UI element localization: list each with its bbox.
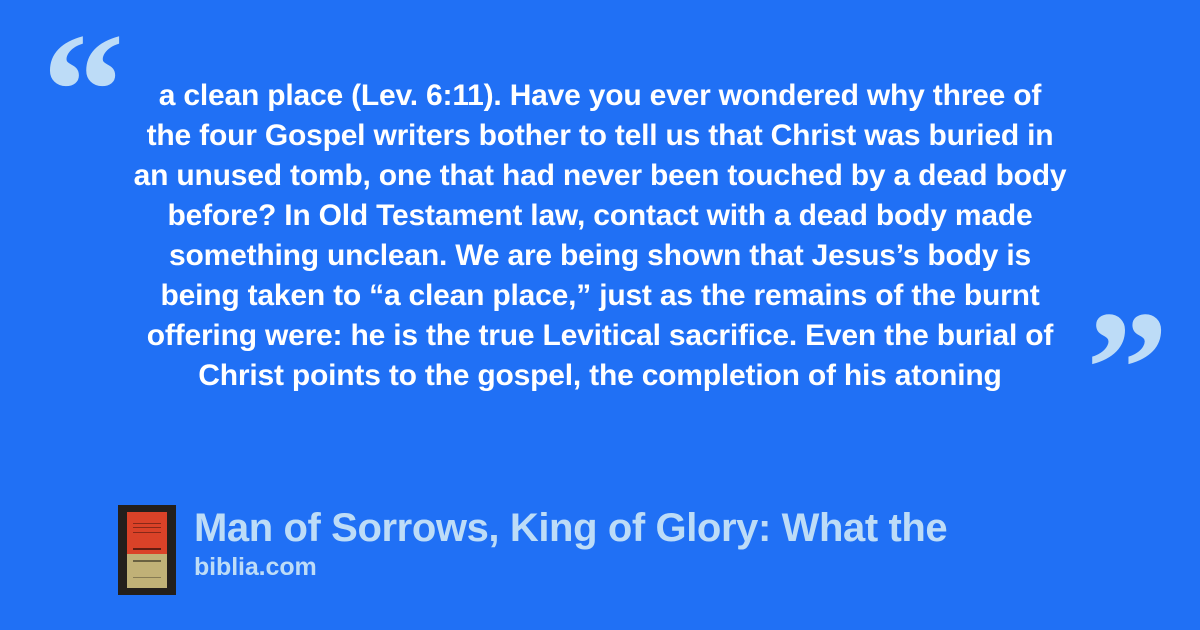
book-cover-line [133, 532, 162, 533]
book-title: Man of Sorrows, King of Glory: What the [194, 505, 947, 552]
quote-block: a clean place (Lev. 6:11). Have you ever… [100, 76, 1100, 396]
attribution-text: Man of Sorrows, King of Glory: What the … [194, 505, 947, 582]
book-cover-line [133, 523, 162, 524]
attribution-footer: Man of Sorrows, King of Glory: What the … [118, 505, 947, 595]
book-cover-line [133, 527, 162, 528]
closing-quote-icon: ” [1086, 286, 1169, 451]
book-cover-line [133, 560, 162, 562]
book-cover-line [133, 577, 162, 578]
quote-card: “ a clean place (Lev. 6:11). Have you ev… [0, 0, 1200, 630]
source-label: biblia.com [194, 552, 947, 582]
quote-text: a clean place (Lev. 6:11). Have you ever… [100, 76, 1100, 396]
book-cover-line [133, 548, 162, 550]
book-cover-icon [118, 505, 176, 595]
book-cover-art [127, 512, 167, 588]
